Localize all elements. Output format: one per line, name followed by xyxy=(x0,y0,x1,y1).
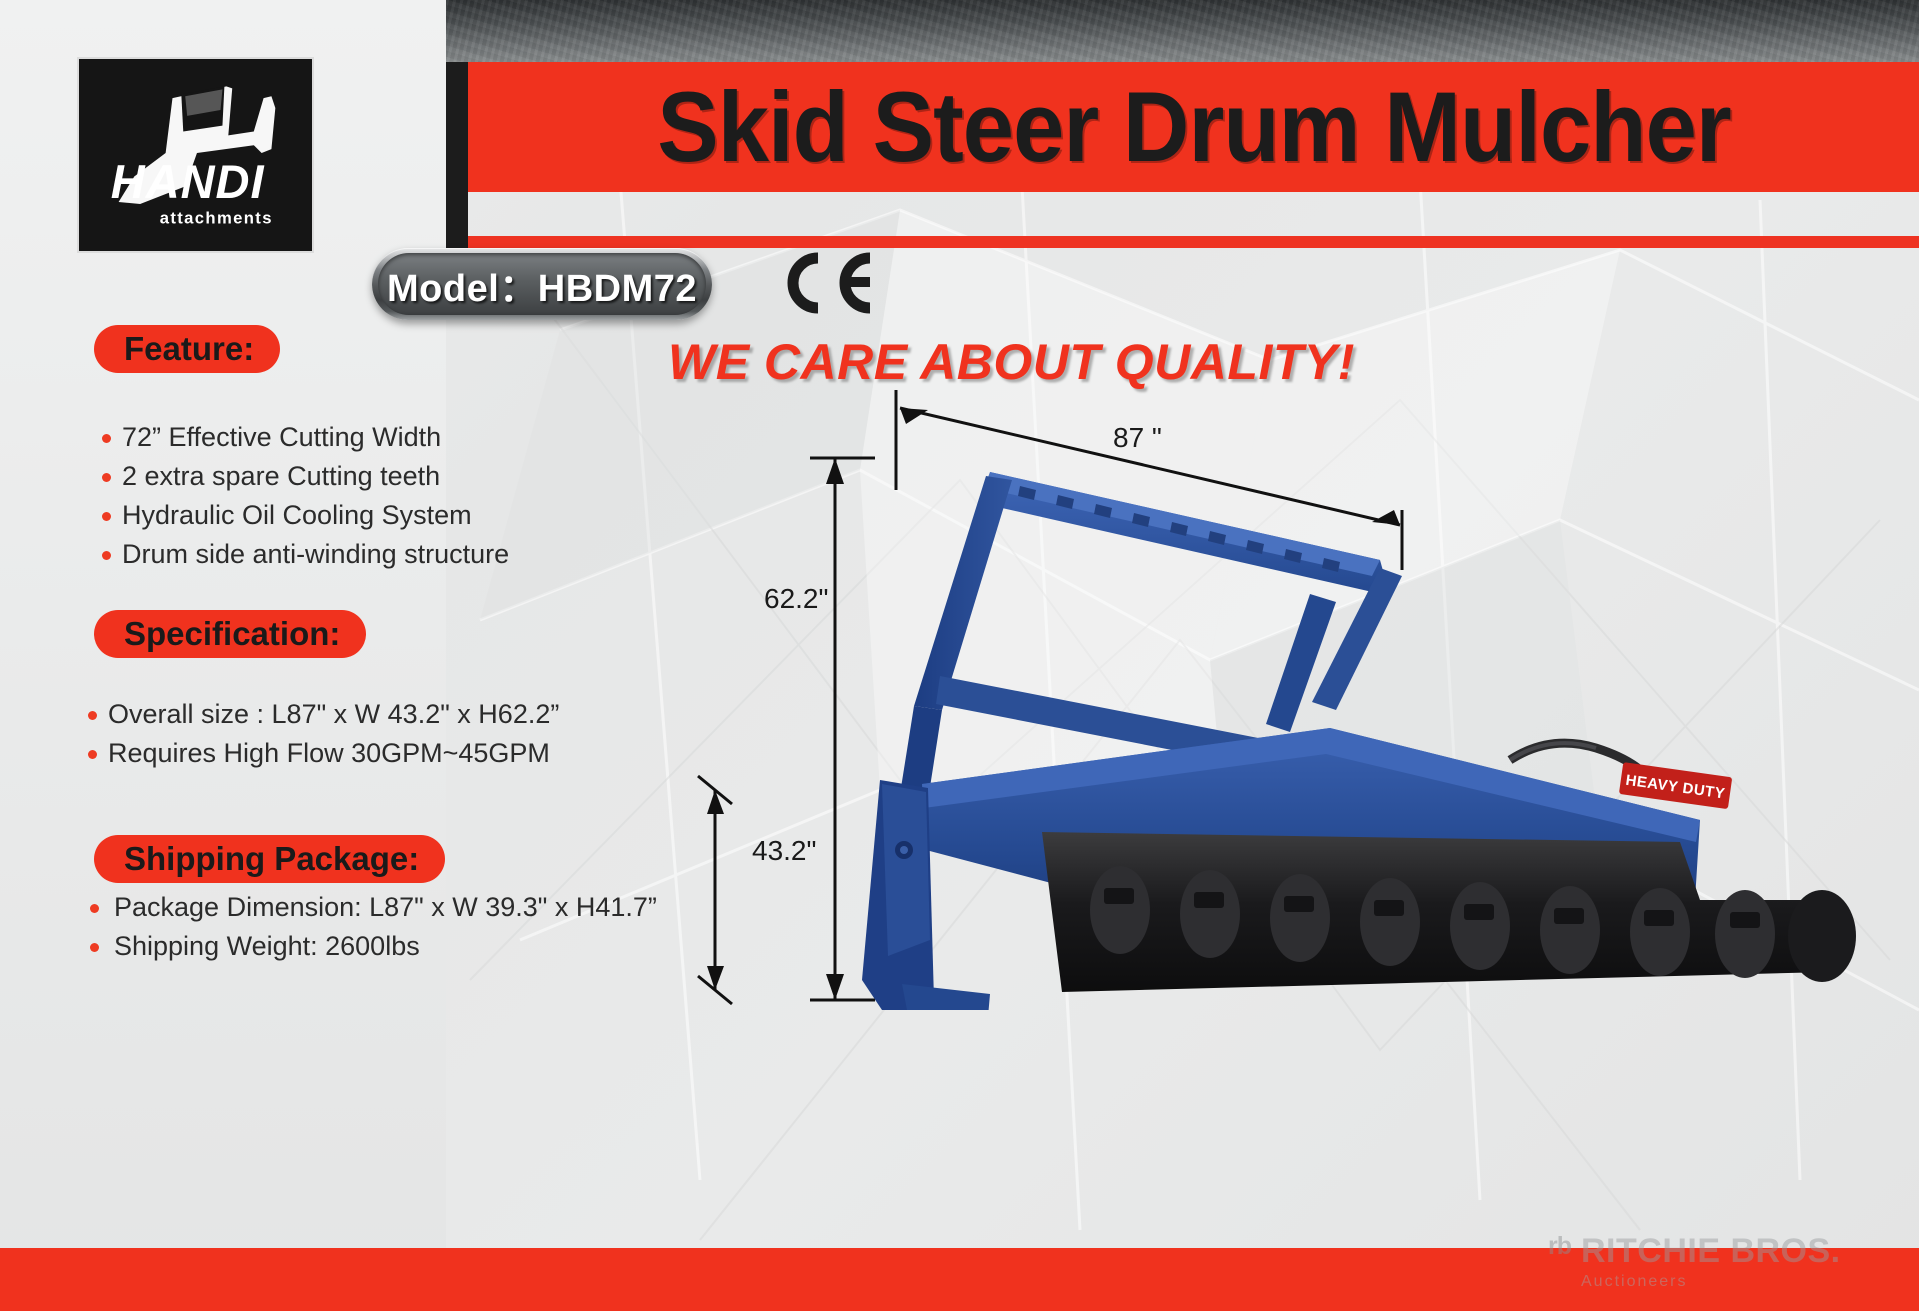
svg-text:attachments: attachments xyxy=(160,209,273,228)
dimension-depth-label: 43.2" xyxy=(752,835,816,867)
ritchie-bros-watermark: rb RITCHIE BROS. Auctioneers xyxy=(1548,1232,1841,1291)
list-item: Drum side anti-winding structure xyxy=(100,535,509,574)
list-item: Shipping Weight: 2600lbs xyxy=(86,927,657,966)
dimension-height-label: 62.2" xyxy=(764,583,828,615)
list-item: Overall size : L87" x W 43.2" x H62.2” xyxy=(86,695,559,734)
product-photo: HEAVY DUTY xyxy=(690,380,1919,1010)
svg-text:HANDI: HANDI xyxy=(111,155,265,208)
banner-underline xyxy=(468,236,1919,248)
list-item: Requires High Flow 30GPM~45GPM xyxy=(86,734,559,773)
watermark-subtitle: Auctioneers xyxy=(1581,1273,1841,1291)
list-item: 2 extra spare Cutting teeth xyxy=(100,457,509,496)
product-spec-sheet: HANDI attachments Skid Steer Drum Mulche… xyxy=(0,0,1919,1311)
shipping-heading: Shipping Package: xyxy=(94,835,445,883)
page-title: Skid Steer Drum Mulcher xyxy=(616,70,1770,184)
top-concrete-strip xyxy=(446,0,1919,62)
list-item: Hydraulic Oil Cooling System xyxy=(100,496,509,535)
list-item: 72” Effective Cutting Width xyxy=(100,418,509,457)
watermark-name: RITCHIE BROS. xyxy=(1581,1232,1841,1271)
model-label: Model：HBDM72 xyxy=(387,257,697,312)
black-accent-bar xyxy=(446,62,468,262)
specification-list: Overall size : L87" x W 43.2" x H62.2” R… xyxy=(86,695,559,773)
rb-logo-icon: rb xyxy=(1548,1232,1571,1261)
specification-heading: Specification: xyxy=(94,610,366,658)
feature-heading: Feature: xyxy=(94,325,280,373)
brand-logo: HANDI attachments xyxy=(77,57,314,253)
model-badge: Model：HBDM72 xyxy=(372,248,712,320)
ce-mark-icon xyxy=(778,250,878,316)
feature-list: 72” Effective Cutting Width 2 extra spar… xyxy=(100,418,509,574)
dimension-width-label: 87 " xyxy=(1113,422,1162,454)
shipping-list: Package Dimension: L87" x W 39.3" x H41.… xyxy=(86,888,657,966)
list-item: Package Dimension: L87" x W 39.3" x H41.… xyxy=(86,888,657,927)
title-banner: Skid Steer Drum Mulcher xyxy=(468,62,1919,192)
